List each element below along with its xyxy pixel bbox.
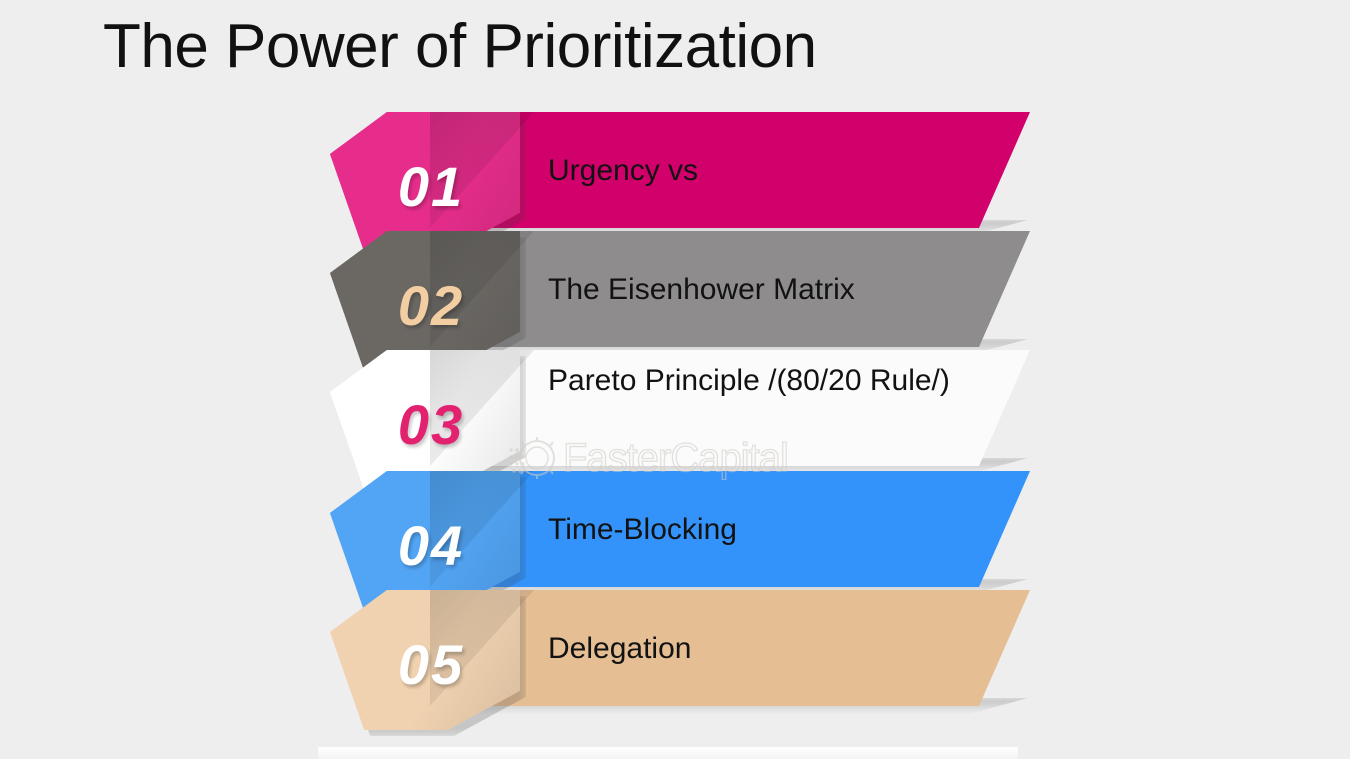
bottom-strip xyxy=(318,747,1018,759)
step-label: Urgency vs xyxy=(548,112,968,228)
page-title: The Power of Prioritization xyxy=(103,8,817,86)
step-label: Delegation xyxy=(548,590,968,706)
infographic-canvas: The Power of Prioritization 01Urgency vs… xyxy=(0,0,1350,759)
step-row: 05Delegation xyxy=(0,590,1350,740)
step-label: The Eisenhower Matrix xyxy=(548,231,968,347)
step-label: Time-Blocking xyxy=(548,471,968,587)
step-label: Pareto Principle /(80/20 Rule/) xyxy=(548,350,968,478)
